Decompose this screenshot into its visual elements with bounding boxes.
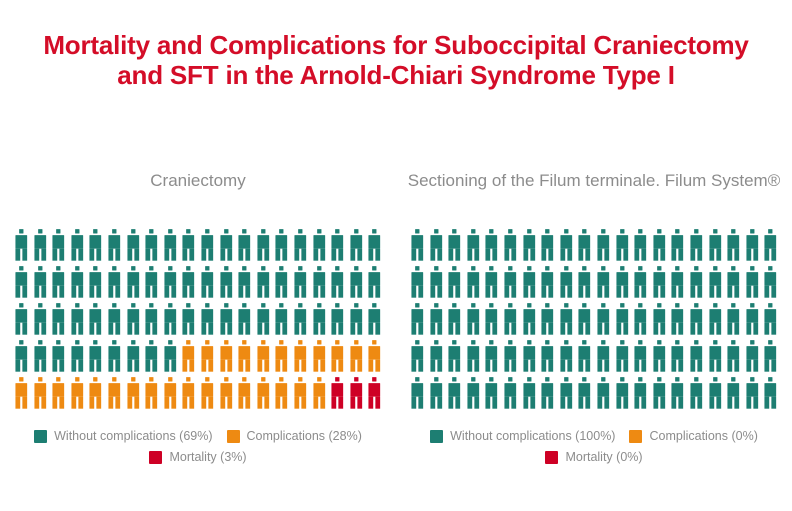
person-icon xyxy=(650,339,669,376)
person-icon xyxy=(49,376,68,413)
person-icon xyxy=(12,302,31,339)
person-icon xyxy=(482,265,501,302)
person-icon xyxy=(724,302,743,339)
panel-heading-filum-system: Sectioning of the Filum terminale. Filum… xyxy=(396,146,792,192)
pictogram-grid-filum-system xyxy=(408,228,780,413)
person-icon xyxy=(538,376,557,413)
legend-swatch-without-complications xyxy=(430,430,443,443)
person-icon xyxy=(761,228,780,265)
person-icon xyxy=(365,339,384,376)
person-icon xyxy=(291,376,310,413)
person-icon xyxy=(68,376,87,413)
legend-swatch-without-complications xyxy=(34,430,47,443)
legend-item: Mortality (3%) xyxy=(18,450,378,464)
person-icon xyxy=(575,376,594,413)
person-icon xyxy=(482,339,501,376)
person-icon xyxy=(31,265,50,302)
person-icon xyxy=(538,339,557,376)
person-icon xyxy=(706,376,725,413)
legend-item: Complications (0%) xyxy=(629,429,757,443)
person-icon xyxy=(49,339,68,376)
person-icon xyxy=(743,228,762,265)
person-icon xyxy=(761,302,780,339)
person-icon xyxy=(291,228,310,265)
person-icon xyxy=(86,228,105,265)
person-icon xyxy=(594,302,613,339)
person-icon xyxy=(31,339,50,376)
person-icon xyxy=(724,265,743,302)
person-icon xyxy=(217,376,236,413)
person-icon xyxy=(650,228,669,265)
person-icon xyxy=(575,228,594,265)
person-icon xyxy=(613,228,632,265)
person-icon xyxy=(68,302,87,339)
person-icon xyxy=(520,339,539,376)
person-icon xyxy=(427,376,446,413)
person-icon xyxy=(761,376,780,413)
person-icon xyxy=(310,376,329,413)
person-icon xyxy=(631,339,650,376)
person-icon xyxy=(613,302,632,339)
person-icon xyxy=(179,228,198,265)
person-icon xyxy=(613,339,632,376)
legend-item: Without complications (100%) xyxy=(430,429,615,443)
person-icon xyxy=(68,339,87,376)
person-icon xyxy=(124,228,143,265)
legend-filum-system: Without complications (100%)Complication… xyxy=(414,429,774,464)
person-icon xyxy=(198,265,217,302)
person-icon xyxy=(445,339,464,376)
person-icon xyxy=(105,228,124,265)
person-icon xyxy=(594,376,613,413)
person-icon xyxy=(254,339,273,376)
person-icon xyxy=(310,339,329,376)
person-icon xyxy=(272,339,291,376)
person-icon xyxy=(631,228,650,265)
person-icon xyxy=(124,302,143,339)
legend-item: Mortality (0%) xyxy=(414,450,774,464)
person-icon xyxy=(291,339,310,376)
person-icon xyxy=(668,302,687,339)
person-icon xyxy=(631,302,650,339)
person-icon xyxy=(291,302,310,339)
person-icon xyxy=(49,265,68,302)
person-icon xyxy=(328,339,347,376)
person-icon xyxy=(408,339,427,376)
person-icon xyxy=(464,265,483,302)
person-icon xyxy=(482,302,501,339)
person-icon xyxy=(706,339,725,376)
person-icon xyxy=(310,302,329,339)
person-icon xyxy=(161,265,180,302)
person-icon xyxy=(161,376,180,413)
person-icon xyxy=(724,339,743,376)
person-icon xyxy=(761,339,780,376)
person-icon xyxy=(179,265,198,302)
person-icon xyxy=(254,376,273,413)
person-icon xyxy=(743,302,762,339)
person-icon xyxy=(347,228,366,265)
person-icon xyxy=(538,265,557,302)
person-icon xyxy=(557,339,576,376)
person-icon xyxy=(86,265,105,302)
person-icon xyxy=(501,339,520,376)
person-icon xyxy=(347,339,366,376)
legend-item-label: Complications (28%) xyxy=(247,429,362,443)
person-icon xyxy=(310,265,329,302)
person-icon xyxy=(161,302,180,339)
legend-item-label: Without complications (69%) xyxy=(54,429,212,443)
person-icon xyxy=(650,265,669,302)
person-icon xyxy=(272,302,291,339)
person-icon xyxy=(706,265,725,302)
person-icon xyxy=(68,228,87,265)
person-icon xyxy=(668,376,687,413)
person-icon xyxy=(161,339,180,376)
person-icon xyxy=(235,302,254,339)
person-icon xyxy=(328,302,347,339)
person-icon xyxy=(179,302,198,339)
person-icon xyxy=(538,228,557,265)
person-icon xyxy=(408,302,427,339)
person-icon xyxy=(464,228,483,265)
person-icon xyxy=(743,339,762,376)
person-icon xyxy=(49,302,68,339)
person-icon xyxy=(464,376,483,413)
person-icon xyxy=(179,339,198,376)
person-icon xyxy=(105,376,124,413)
person-icon xyxy=(12,376,31,413)
person-icon xyxy=(105,339,124,376)
person-icon xyxy=(501,376,520,413)
person-icon xyxy=(594,265,613,302)
person-icon xyxy=(142,228,161,265)
person-icon xyxy=(743,376,762,413)
legend-swatch-mortality xyxy=(545,451,558,464)
person-icon xyxy=(328,376,347,413)
person-icon xyxy=(142,265,161,302)
person-icon xyxy=(328,228,347,265)
person-icon xyxy=(706,302,725,339)
person-icon xyxy=(235,228,254,265)
legend-item-label: Complications (0%) xyxy=(649,429,757,443)
person-icon xyxy=(217,265,236,302)
page-title: Mortality and Complications for Suboccip… xyxy=(0,30,792,90)
person-icon xyxy=(272,376,291,413)
person-icon xyxy=(427,339,446,376)
person-icon xyxy=(198,339,217,376)
person-icon xyxy=(328,265,347,302)
legend-swatch-complications xyxy=(629,430,642,443)
person-icon xyxy=(49,228,68,265)
person-icon xyxy=(631,265,650,302)
person-icon xyxy=(557,265,576,302)
person-icon xyxy=(365,376,384,413)
person-icon xyxy=(105,302,124,339)
person-icon xyxy=(594,339,613,376)
person-icon xyxy=(613,265,632,302)
person-icon xyxy=(124,339,143,376)
person-icon xyxy=(31,376,50,413)
person-icon xyxy=(501,265,520,302)
person-icon xyxy=(743,265,762,302)
person-icon xyxy=(613,376,632,413)
person-icon xyxy=(464,339,483,376)
person-icon xyxy=(557,302,576,339)
person-icon xyxy=(408,228,427,265)
person-icon xyxy=(12,339,31,376)
person-icon xyxy=(272,265,291,302)
person-icon xyxy=(12,265,31,302)
person-icon xyxy=(594,228,613,265)
person-icon xyxy=(31,228,50,265)
person-icon xyxy=(86,376,105,413)
person-icon xyxy=(161,228,180,265)
person-icon xyxy=(254,302,273,339)
person-icon xyxy=(179,376,198,413)
person-icon xyxy=(538,302,557,339)
person-icon xyxy=(272,228,291,265)
person-icon xyxy=(105,265,124,302)
person-icon xyxy=(142,302,161,339)
legend-craniectomy: Without complications (69%)Complications… xyxy=(18,429,378,464)
person-icon xyxy=(687,339,706,376)
panel-craniectomy: Craniectomy Without complications (69%)C… xyxy=(0,146,396,464)
person-icon xyxy=(445,228,464,265)
person-icon xyxy=(198,302,217,339)
person-icon xyxy=(235,339,254,376)
person-icon xyxy=(520,228,539,265)
person-icon xyxy=(254,228,273,265)
person-icon xyxy=(650,302,669,339)
person-icon xyxy=(217,228,236,265)
legend-swatch-mortality xyxy=(149,451,162,464)
person-icon xyxy=(365,302,384,339)
person-icon xyxy=(142,339,161,376)
person-icon xyxy=(124,265,143,302)
person-icon xyxy=(365,265,384,302)
person-icon xyxy=(291,265,310,302)
person-icon xyxy=(124,376,143,413)
person-icon xyxy=(668,339,687,376)
person-icon xyxy=(482,376,501,413)
infographic-page: Mortality and Complications for Suboccip… xyxy=(0,0,792,511)
person-icon xyxy=(408,376,427,413)
person-icon xyxy=(464,302,483,339)
person-icon xyxy=(631,376,650,413)
person-icon xyxy=(347,265,366,302)
person-icon xyxy=(86,302,105,339)
pictogram-grid-craniectomy xyxy=(12,228,384,413)
legend-swatch-complications xyxy=(227,430,240,443)
person-icon xyxy=(557,376,576,413)
person-icon xyxy=(408,265,427,302)
person-icon xyxy=(650,376,669,413)
person-icon xyxy=(142,376,161,413)
person-icon xyxy=(427,265,446,302)
person-icon xyxy=(198,376,217,413)
person-icon xyxy=(217,339,236,376)
person-icon xyxy=(724,376,743,413)
legend-item-label: Mortality (3%) xyxy=(169,450,246,464)
person-icon xyxy=(347,302,366,339)
legend-item: Complications (28%) xyxy=(227,429,362,443)
person-icon xyxy=(445,376,464,413)
person-icon xyxy=(86,339,105,376)
person-icon xyxy=(235,265,254,302)
panel-filum-system: Sectioning of the Filum terminale. Filum… xyxy=(396,146,792,464)
person-icon xyxy=(347,376,366,413)
person-icon xyxy=(668,228,687,265)
person-icon xyxy=(501,228,520,265)
person-icon xyxy=(68,265,87,302)
person-icon xyxy=(445,265,464,302)
person-icon xyxy=(575,339,594,376)
person-icon xyxy=(31,302,50,339)
person-icon xyxy=(724,228,743,265)
person-icon xyxy=(687,228,706,265)
person-icon xyxy=(235,376,254,413)
panel-heading-craniectomy: Craniectomy xyxy=(0,146,396,192)
person-icon xyxy=(198,228,217,265)
person-icon xyxy=(520,302,539,339)
person-icon xyxy=(254,265,273,302)
legend-item-label: Without complications (100%) xyxy=(450,429,615,443)
person-icon xyxy=(520,265,539,302)
person-icon xyxy=(520,376,539,413)
person-icon xyxy=(365,228,384,265)
person-icon xyxy=(687,302,706,339)
legend-item: Without complications (69%) xyxy=(34,429,212,443)
person-icon xyxy=(706,228,725,265)
person-icon xyxy=(310,228,329,265)
panels-container: Craniectomy Without complications (69%)C… xyxy=(0,146,792,464)
person-icon xyxy=(427,228,446,265)
legend-item-label: Mortality (0%) xyxy=(565,450,642,464)
person-icon xyxy=(501,302,520,339)
person-icon xyxy=(761,265,780,302)
person-icon xyxy=(687,265,706,302)
person-icon xyxy=(575,302,594,339)
person-icon xyxy=(575,265,594,302)
person-icon xyxy=(557,228,576,265)
person-icon xyxy=(482,228,501,265)
person-icon xyxy=(687,376,706,413)
person-icon xyxy=(427,302,446,339)
person-icon xyxy=(12,228,31,265)
person-icon xyxy=(445,302,464,339)
person-icon xyxy=(668,265,687,302)
person-icon xyxy=(217,302,236,339)
